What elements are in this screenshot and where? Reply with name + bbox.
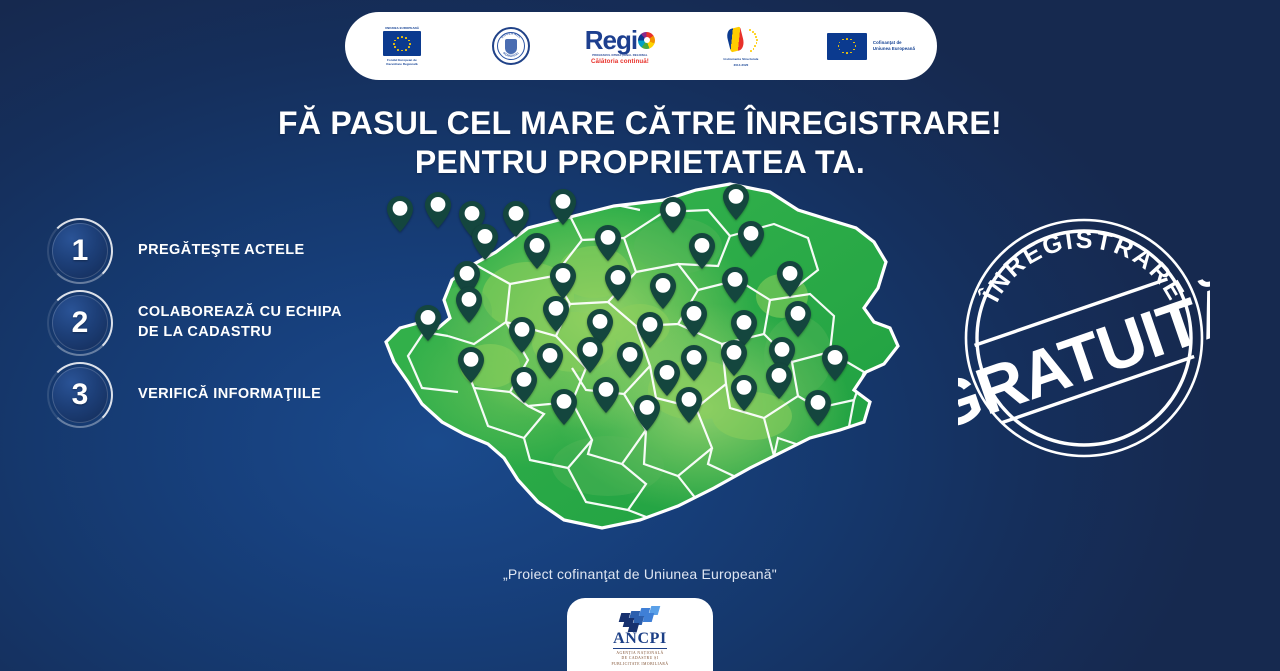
map-pin-icon <box>680 300 708 338</box>
map-pin[interactable] <box>592 376 620 414</box>
map-pin[interactable] <box>784 300 812 338</box>
map-pin[interactable] <box>730 374 758 412</box>
map-pin[interactable] <box>576 336 604 374</box>
tricolor-sail-shape <box>725 26 745 52</box>
map-pin-icon <box>720 339 748 377</box>
romania-map <box>378 176 903 551</box>
logo-caption: Cofinanţat de Uniunea Europeană <box>873 40 915 53</box>
instrumente-structurale-icon <box>723 25 759 55</box>
eu-stars <box>827 33 867 60</box>
regio-wordmark-row: Regi <box>585 27 655 53</box>
map-pin-icon <box>386 195 414 233</box>
map-pin[interactable] <box>737 220 765 258</box>
map-pin-icon <box>784 300 812 338</box>
seal-ring-text: GUVERNUL ROMÂNIEI <box>494 29 528 63</box>
map-pin-icon <box>765 362 793 400</box>
map-pin-icon <box>508 316 536 354</box>
map-pin-icon <box>542 295 570 333</box>
regio-colorwheel-icon <box>638 32 655 49</box>
map-pin-icon <box>633 394 661 432</box>
map-pin[interactable] <box>455 286 483 324</box>
map-pin[interactable] <box>675 386 703 424</box>
step-badge-3: 3 <box>52 367 108 423</box>
map-pin-icon <box>523 232 551 270</box>
map-pin[interactable] <box>386 195 414 233</box>
map-pin-icon <box>737 220 765 258</box>
map-pin[interactable] <box>523 232 551 270</box>
regio-subtitle-program: PROGRAMUL OPERAŢIONAL REGIONAL <box>592 54 647 57</box>
logo-regio: Regi PROGRAMUL OPERAŢIONAL REGIONAL Călă… <box>585 27 655 65</box>
map-pin-icon <box>721 266 749 304</box>
map-pin[interactable] <box>659 196 687 234</box>
map-pin[interactable] <box>720 339 748 377</box>
map-pin-icon <box>471 223 499 261</box>
step-badge-2: 2 <box>52 295 108 351</box>
poster-canvas: UNIUNEA EUROPEANĂ Fondul European de Dez… <box>0 0 1280 671</box>
map-pin-icon <box>821 344 849 382</box>
map-pin[interactable] <box>721 266 749 304</box>
map-pin[interactable] <box>549 188 577 226</box>
footer-note: „Proiect cofinanţat de Uniunea Europeană… <box>0 566 1280 582</box>
headline-line-1: FĂ PASUL CEL MARE CĂTRE ÎNREGISTRARE! <box>278 105 1002 141</box>
step-number: 2 <box>72 308 89 338</box>
map-pin[interactable] <box>604 264 632 302</box>
logo-caption-bottom: 2014-2020 <box>734 63 749 67</box>
map-pin[interactable] <box>424 191 452 229</box>
map-pin[interactable] <box>510 366 538 404</box>
map-pin-icon <box>604 264 632 302</box>
map-pin[interactable] <box>649 272 677 310</box>
step-item-3: 3 VERIFICĂ INFORMAŢIILE <box>52 364 382 426</box>
stamp-svg: ÎNREGISTRARE GRATUITĂ <box>958 212 1210 464</box>
map-pin-icon <box>776 260 804 298</box>
logo-caption-top: Instrumente Structurale <box>724 57 759 61</box>
map-pin[interactable] <box>633 394 661 432</box>
ancpi-subtitle: AGENȚIA NAȚIONALĂ DE CADASTRU ȘI PUBLICI… <box>611 651 668 668</box>
eu-flag-icon <box>383 31 421 56</box>
regio-wordmark: Regi <box>585 27 637 53</box>
step-item-2: 2 COLABOREAZĂ CU ECHIPA DE LA CADASTRU <box>52 292 382 354</box>
svg-text:ROMÂNIEI: ROMÂNIEI <box>502 51 520 58</box>
map-pin-icon <box>659 196 687 234</box>
logo-caption-top: UNIUNEA EUROPEANĂ <box>385 26 419 30</box>
map-pin[interactable] <box>457 346 485 384</box>
map-pin-icon <box>722 183 750 221</box>
ancpi-wordmark: ANCPI <box>613 631 667 649</box>
map-pin-icon <box>510 366 538 404</box>
map-pin[interactable] <box>550 388 578 426</box>
map-pin[interactable] <box>688 232 716 270</box>
map-pin-icon <box>457 346 485 384</box>
map-pin-icon <box>455 286 483 324</box>
map-pin[interactable] <box>765 362 793 400</box>
map-pin-icon <box>688 232 716 270</box>
map-pin[interactable] <box>508 316 536 354</box>
steps-list: 1 PREGĂTEŞTE ACTELE 2 COLABOREAZĂ CU ECH… <box>52 220 382 436</box>
map-pin[interactable] <box>804 389 832 427</box>
logo-guvernul-romaniei: GUVERNUL ROMÂNIEI <box>492 27 530 65</box>
logo-instrumente-structurale: Instrumente Structurale 2014-2020 <box>710 25 772 67</box>
map-pin-icon <box>414 304 442 342</box>
logo-cofinantat-uniunea-europeana: Cofinanţat de Uniunea Europeană <box>827 33 915 60</box>
map-pin[interactable] <box>616 341 644 379</box>
step-label: COLABOREAZĂ CU ECHIPA DE LA CADASTRU <box>138 303 342 342</box>
map-pin[interactable] <box>680 300 708 338</box>
eu-flag-icon <box>827 33 867 60</box>
map-pin[interactable] <box>594 224 622 262</box>
map-pin[interactable] <box>414 304 442 342</box>
ancpi-logo: ANCPI AGENȚIA NAȚIONALĂ DE CADASTRU ȘI P… <box>567 598 713 671</box>
eu-funding-logo-bar: UNIUNEA EUROPEANĂ Fondul European de Dez… <box>345 12 937 80</box>
map-pin-icon <box>576 336 604 374</box>
map-pin[interactable] <box>680 344 708 382</box>
map-pin-icon <box>592 376 620 414</box>
map-pin-icon <box>675 386 703 424</box>
logo-caption-bottom: Fondul European de Dezvoltare Regională <box>386 58 417 66</box>
map-pin-icon <box>680 344 708 382</box>
map-pin[interactable] <box>776 260 804 298</box>
step-label: VERIFICĂ INFORMAŢIILE <box>138 385 321 405</box>
map-pin[interactable] <box>536 342 564 380</box>
map-pin-icon <box>536 342 564 380</box>
step-badge-1: 1 <box>52 223 108 279</box>
map-pin-icon <box>616 341 644 379</box>
government-seal-icon: GUVERNUL ROMÂNIEI <box>492 27 530 65</box>
step-item-1: 1 PREGĂTEŞTE ACTELE <box>52 220 382 282</box>
map-pin-icon <box>649 272 677 310</box>
map-pin-icon <box>804 389 832 427</box>
ancpi-mark-icon <box>620 606 660 630</box>
map-pin-icon <box>424 191 452 229</box>
step-number: 1 <box>72 236 89 266</box>
eu-stars <box>383 31 421 56</box>
map-pin[interactable] <box>542 295 570 333</box>
map-pin[interactable] <box>722 183 750 221</box>
logo-eu-fondul-european: UNIUNEA EUROPEANĂ Fondul European de Dez… <box>367 26 437 67</box>
map-pin-icon <box>549 188 577 226</box>
step-label: PREGĂTEŞTE ACTELE <box>138 241 305 261</box>
page-title: FĂ PASUL CEL MARE CĂTRE ÎNREGISTRARE! PE… <box>0 104 1280 183</box>
status-badge-inregistrare-gratuita: ÎNREGISTRARE GRATUITĂ <box>958 212 1210 464</box>
map-pin-icon <box>550 388 578 426</box>
map-pin[interactable] <box>471 223 499 261</box>
svg-text:GUVERNUL: GUVERNUL <box>500 31 522 39</box>
map-pin-icon <box>730 374 758 412</box>
map-pin-icon <box>594 224 622 262</box>
map-pin[interactable] <box>821 344 849 382</box>
regio-tagline: Călătoria continuă! <box>591 58 649 65</box>
step-number: 3 <box>72 380 89 410</box>
